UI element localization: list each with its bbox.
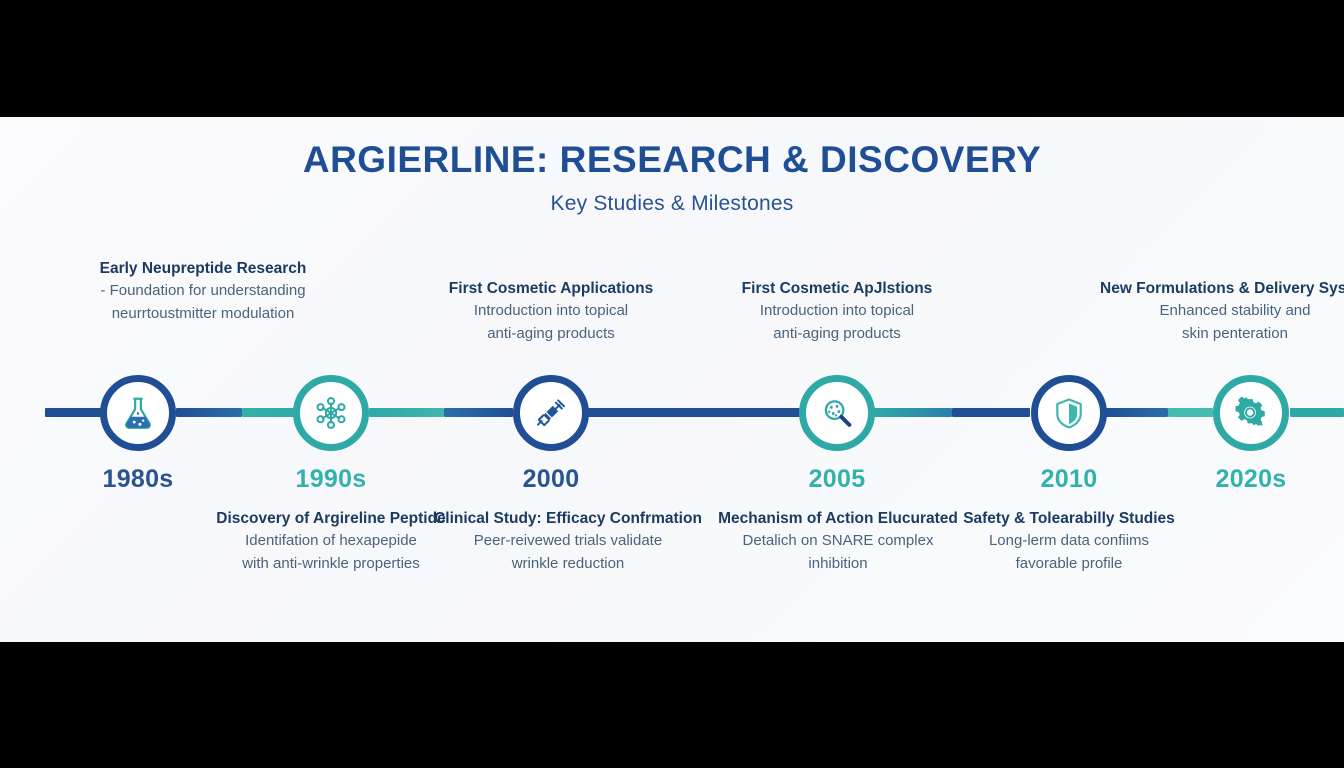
track-segment-start bbox=[45, 408, 108, 417]
caption-body-line2: anti-aging products bbox=[416, 324, 686, 344]
caption-title: Clinical Study: Efficacy Confrmation bbox=[433, 509, 703, 528]
timeline-node-1990s[interactable] bbox=[293, 375, 369, 451]
caption-title: New Formulations & Delivery Systems bbox=[1100, 279, 1344, 298]
caption-title: Mechanism of Action Elucurated bbox=[703, 509, 973, 528]
gear-icon bbox=[1232, 394, 1270, 432]
timeline-caption-2010: Safety & Tolearabilly Studies Long-lerm … bbox=[934, 509, 1204, 574]
track-segment-1b bbox=[242, 408, 294, 417]
timeline-year-1980s: 1980s bbox=[58, 465, 218, 494]
caption-title: First Cosmetic Applications bbox=[416, 279, 686, 298]
letterbox-bottom-bar bbox=[0, 642, 1344, 768]
timeline-caption-clinical-study: Clinical Study: Efficacy Confrmation Pee… bbox=[433, 509, 703, 574]
timeline-node-1980s[interactable] bbox=[100, 375, 176, 451]
caption-body-line2: anti-aging products bbox=[702, 324, 972, 344]
syringe-icon bbox=[533, 395, 569, 431]
caption-title: Safety & Tolearabilly Studies bbox=[934, 509, 1204, 528]
caption-body-line1: Detalich on SNARE complex bbox=[703, 531, 973, 551]
infographic-stage: ARGIERLINE: RESEARCH & DISCOVERY Key Stu… bbox=[0, 0, 1344, 768]
timeline-caption-2005: First Cosmetic ApJlstions Introduction i… bbox=[702, 279, 972, 344]
timeline-year-1990s: 1990s bbox=[251, 465, 411, 494]
caption-body-line1: Introduction into topical bbox=[416, 301, 686, 321]
caption-body-line2: skin penteration bbox=[1100, 324, 1344, 344]
molecule-icon bbox=[312, 394, 350, 432]
track-segment-4a bbox=[874, 408, 952, 417]
timeline-caption-2000: First Cosmetic Applications Introduction… bbox=[416, 279, 686, 344]
timeline-year-2010: 2010 bbox=[989, 465, 1149, 494]
caption-body-line2: inhibition bbox=[703, 554, 973, 574]
timeline-year-2000: 2000 bbox=[471, 465, 631, 494]
timeline-node-2005[interactable] bbox=[799, 375, 875, 451]
track-segment-4b bbox=[952, 408, 1030, 417]
timeline-year-2020s: 2020s bbox=[1171, 465, 1331, 494]
track-segment-3 bbox=[588, 408, 800, 417]
infographic-canvas: ARGIERLINE: RESEARCH & DISCOVERY Key Stu… bbox=[0, 117, 1344, 642]
shield-icon bbox=[1052, 395, 1086, 431]
timeline-caption-2020s: New Formulations & Delivery Systems Enha… bbox=[1100, 279, 1344, 344]
timeline-caption-mechanism-of-action: Mechanism of Action Elucurated Detalich … bbox=[703, 509, 973, 574]
caption-body-line1: Enhanced stability and bbox=[1100, 301, 1344, 321]
track-segment-2a bbox=[369, 408, 444, 417]
caption-body-line1: - Foundation for understanding bbox=[68, 281, 338, 301]
flask-icon bbox=[119, 394, 157, 432]
timeline-node-2020s[interactable] bbox=[1213, 375, 1289, 451]
track-segment-end bbox=[1290, 408, 1344, 417]
timeline-node-2010[interactable] bbox=[1031, 375, 1107, 451]
caption-title: Discovery of Argireline Peptide bbox=[196, 509, 466, 528]
caption-title: Early Neupreptide Research bbox=[68, 259, 338, 278]
letterbox-top-bar bbox=[0, 0, 1344, 117]
timeline-year-2005: 2005 bbox=[757, 465, 917, 494]
caption-body-line1: Identifation of hexapepide bbox=[196, 531, 466, 551]
magnifier-icon bbox=[818, 394, 856, 432]
caption-body-line2: favorable profile bbox=[934, 554, 1204, 574]
caption-body-line1: Long-lerm data confiims bbox=[934, 531, 1204, 551]
caption-body-line2: wrinkle reduction bbox=[433, 554, 703, 574]
caption-body-line2: neurrtoustmitter modulation bbox=[68, 304, 338, 324]
caption-title: First Cosmetic ApJlstions bbox=[702, 279, 972, 298]
caption-body-line2: with anti-wrinkle properties bbox=[196, 554, 466, 574]
timeline-node-2000[interactable] bbox=[513, 375, 589, 451]
timeline: 1980s Early Neupreptide Research - Found… bbox=[0, 117, 1344, 642]
track-segment-1a bbox=[176, 408, 242, 417]
timeline-caption-1980s: Early Neupreptide Research - Foundation … bbox=[68, 259, 338, 324]
track-segment-2b bbox=[444, 408, 513, 417]
caption-body-line1: Peer-reivewed trials validate bbox=[433, 531, 703, 551]
track-segment-5b bbox=[1168, 408, 1213, 417]
timeline-caption-1990s: Discovery of Argireline Peptide Identifa… bbox=[196, 509, 466, 574]
caption-body-line1: Introduction into topical bbox=[702, 301, 972, 321]
track-segment-5a bbox=[1106, 408, 1168, 417]
